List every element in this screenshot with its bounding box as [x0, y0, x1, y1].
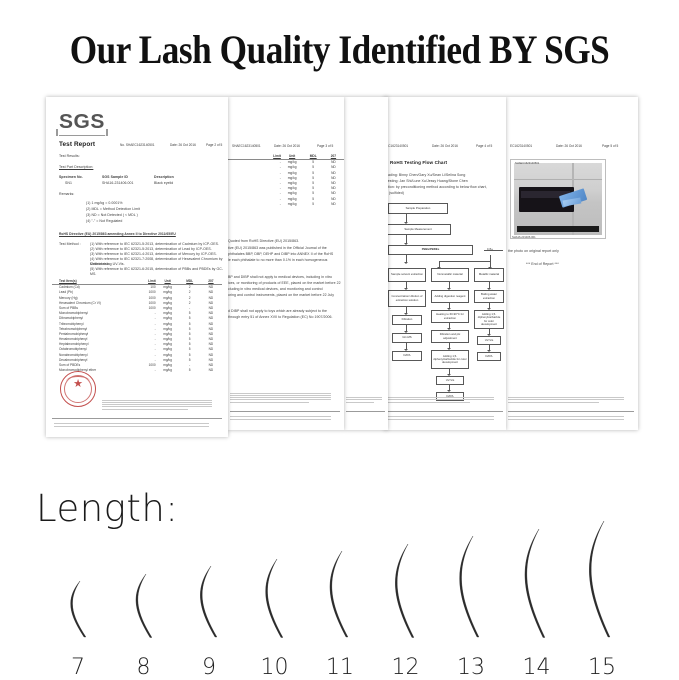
report-date: Date: 26 Oct 2016	[170, 143, 196, 147]
sgs-report-page-2[interactable]: SGS Test Report No. SHAEC1623140501 Date…	[46, 97, 228, 437]
photo-sample-label: SHAEC1623140501	[515, 162, 539, 165]
lash-size-label: 11	[308, 655, 372, 680]
flow-box-c1-1: Concentration/ dilution of extraction so…	[388, 290, 426, 307]
remark-1: (1) 1 mg/kg = 0.0001%	[86, 201, 123, 206]
lash-fiber	[71, 581, 86, 637]
flow-box-c3-2: Adding 1,5-diphenylcarbazide for color d…	[474, 310, 504, 329]
p2-note2-1: ices, or monitoring of products of EEE, …	[228, 281, 342, 286]
cell-result: ND	[323, 202, 344, 207]
lash-curve	[112, 573, 176, 639]
lash-fiber	[200, 566, 217, 637]
p2-th-limit: Limit	[258, 154, 281, 159]
description-value: Black eyelid	[154, 181, 173, 186]
flow-arrow-branch-mid	[439, 261, 440, 268]
report-page-number: Page 2 of 5	[206, 143, 222, 147]
flow-arrow-c2-2	[449, 323, 450, 329]
lash-length-chart: 789101112131415	[0, 520, 679, 680]
p3-footer-block	[346, 397, 385, 404]
p2-note3: d DIBP shall not apply to toys which are…	[228, 309, 342, 314]
lash-fiber	[265, 559, 282, 638]
flow-box-pbbs-pbdes: PBBs/PBDEs	[388, 245, 473, 255]
flow-arrow-c1-3	[406, 343, 407, 350]
product-info-graphic: Our Lash Quality Identified BY SGS SGS T…	[0, 0, 679, 679]
test-part-label: Test Part Description:	[59, 165, 93, 170]
p5-page-number: Page 5 of 5	[602, 144, 618, 148]
flow-arrow-c2-5	[449, 385, 450, 391]
table-row: -mg/kg5ND	[228, 202, 344, 207]
sgs-report-page-5[interactable]: EC1623140501 Date: 26 Oct 2016 Page 5 of…	[506, 97, 638, 430]
end-of-report: *** End of Report ***	[526, 262, 559, 267]
flow-box-c3-1: Boiling water extraction	[474, 290, 504, 303]
cell-mdl: 5	[179, 368, 199, 373]
certification-stamp	[60, 371, 96, 407]
p2-footer-block	[230, 393, 340, 404]
p5-footer-block	[508, 397, 634, 404]
flow-arrow-branch-right	[490, 255, 491, 268]
stamp-arc-text	[66, 376, 90, 387]
flow-box-sample-preparation: Sample Preparation	[388, 203, 448, 214]
lash-fiber	[395, 544, 414, 638]
lash-size-label: 15	[570, 655, 634, 680]
flow-arrow-c1-2	[406, 325, 407, 332]
p4-report-number: EC1623140501	[386, 144, 408, 148]
flow-arrow-c3-0	[489, 282, 490, 289]
flow-arrow-c2-3	[449, 343, 450, 349]
remark-3: (3) ND = Not Detected ( < MDL )	[86, 213, 138, 218]
flow-box-c3-0: Metallic material	[474, 268, 504, 282]
remarks-label: Remarks:	[59, 192, 74, 197]
lash-curve	[177, 565, 241, 638]
logo-tick-left	[56, 129, 58, 136]
sgs-report-page-sliver[interactable]	[344, 97, 388, 430]
results-table: Test Item(s) Limit Unit MDL 207 Cadmium …	[52, 279, 222, 373]
flow-arrow-c1-1	[406, 307, 407, 314]
p5-report-number: EC1623140501	[510, 144, 532, 148]
lash-fiber	[524, 529, 544, 638]
flow-box-c1-0: Sample solvent extraction	[388, 268, 426, 282]
sgs-logo: SGS	[59, 111, 105, 136]
sampleid-col-header: SGS Sample ID	[102, 175, 128, 180]
lash-curve	[374, 543, 438, 639]
p5-footer-divider	[508, 411, 634, 412]
lash-size-label: 13	[439, 655, 503, 680]
flow-box-c3-3: UV-Vis	[477, 336, 501, 345]
p2-report-number: SHAEC1623140501	[232, 144, 261, 148]
headline-container: Our Lash Quality Identified BY SGS	[0, 28, 679, 72]
p2-note-2: phthalates BBP, DBP, DEHP and DIBP into …	[228, 252, 342, 257]
rohs-directive-heading: RoHS Directive (EU) 2015/863 amending An…	[59, 232, 176, 236]
cell-item: Monobromodiphenyl ether	[52, 368, 132, 373]
p2-results-table: Limit Unit MDL 207 -mg/kg5ND-mg/kg5ND-mg…	[228, 154, 344, 207]
flow-arrow-c1-0	[406, 282, 407, 289]
flow-arrow-3	[406, 255, 407, 263]
cell-limit: -	[258, 202, 281, 207]
cell-unit: mg/kg	[156, 368, 180, 373]
flow-meta-1: Testing: Jan Shi/Lune Xu/Jessy Huang/Sto…	[386, 179, 468, 184]
p4-footer-divider	[386, 411, 503, 412]
flow-meta-2: ation: by preconditioning method accordi…	[386, 185, 487, 190]
p2-note4: through entry 51 of Annex XVII to Regula…	[228, 315, 342, 320]
description-col-header: Description	[154, 175, 174, 180]
flow-arrow-c2-1	[449, 303, 450, 309]
sgs-report-page-4[interactable]: EC1623140501 Date: 26 Oct 2016 Page 4 of…	[384, 97, 506, 430]
flow-meta-3: d (sulfided)	[386, 191, 404, 196]
page-title: Our Lash Quality Identified BY SGS	[41, 28, 639, 72]
lash-size-label: 10	[243, 655, 307, 680]
certificate-gallery: SGS Test Report No. SHAEC1623140501 Date…	[0, 97, 679, 442]
flow-box-c2-1: Adding digestion reagent	[431, 290, 469, 303]
flow-box-c1-2: Filtration	[392, 315, 422, 325]
specimen-col-header: Specimen No.	[59, 175, 83, 180]
p2-th-unit: Unit	[281, 154, 304, 159]
p5-report-date: Date: 26 Oct 2016	[556, 144, 582, 148]
lash-size-label: 14	[505, 655, 569, 680]
p2-page-number: Page 3 of 5	[317, 144, 333, 148]
lash-fiber	[330, 551, 348, 637]
sampleid-value: SHA16-231406.001	[102, 181, 134, 186]
flow-box-sample-measurement: Sample Measurement	[385, 224, 451, 235]
lash-fiber	[460, 536, 479, 637]
photo-caption: SHA16-231406.001	[512, 236, 536, 239]
p2-note2-0: BP and DIBP shall not apply to medical d…	[228, 275, 342, 280]
method-5: (5) With reference to IEC 62321-6:2015, …	[90, 267, 228, 276]
th-mdl: MDL	[179, 279, 199, 284]
flow-box-c2-3: Filtration and pH adjustment	[431, 330, 469, 343]
flow-arrow-c3-2	[489, 329, 490, 335]
p2-note-3: le each phthalate to no more than 0.1% i…	[228, 258, 342, 263]
specimen-value: SN1	[65, 181, 72, 186]
report-number: No. SHAEC1623140501	[120, 143, 155, 147]
flow-box-c2-0: Nonmetallic material	[431, 268, 469, 282]
logo-tick-right	[106, 129, 108, 136]
sample-photo-frame: SHAEC1623140501	[510, 159, 606, 239]
p2-report-date: Date: 26 Oct 2016	[274, 144, 300, 148]
lash-size-label: 8	[112, 655, 176, 680]
method-2: (2) With reference to IEC 62321-5:2013, …	[90, 247, 212, 252]
flow-arrow-c3-3	[489, 345, 490, 351]
p2-footer-divider	[230, 411, 340, 412]
p2-footer-contact	[230, 416, 340, 421]
th-unit: Unit	[156, 279, 180, 284]
photo-ruler	[517, 226, 600, 232]
test-method-label: Test Method :	[59, 242, 81, 247]
footer-divider	[52, 418, 222, 419]
p4-footer-contact	[386, 416, 503, 421]
flow-arrow-c3-1	[489, 303, 490, 309]
p4-report-date: Date: 26 Oct 2016	[432, 144, 458, 148]
photo-shelf-line	[514, 179, 602, 181]
stamp-inner-ring	[64, 375, 92, 403]
flow-arrow-1	[406, 214, 407, 223]
cell-limit: -	[132, 368, 156, 373]
lash-size-label: 7	[46, 655, 110, 680]
flow-line-branch	[439, 261, 491, 262]
th-test-item: Test Item(s)	[52, 279, 132, 284]
lash-curve	[505, 528, 569, 639]
p4-footer-block	[386, 397, 503, 404]
cell-mdl: 5	[303, 202, 322, 207]
lash-curve	[243, 558, 307, 639]
flow-box-c2-5: UV-Vis	[436, 376, 464, 385]
flow-chart-title: RoHS Testing Flow Chart	[390, 160, 447, 165]
lash-curve	[308, 550, 372, 638]
lash-curve	[570, 520, 634, 638]
test-results-label: Test Results:	[59, 154, 80, 159]
method-3: (3) With reference to IEC 62321-4:2013, …	[90, 252, 217, 257]
p2-th-mdl: MDL	[303, 154, 322, 159]
p5-photo-note: the photo on original report only	[508, 249, 559, 254]
lash-fiber	[135, 574, 151, 638]
sample-photo	[514, 163, 602, 235]
flow-box-c1-3: GC-MS	[392, 333, 422, 343]
remark-2: (2) MDL = Method Detection Limit	[86, 207, 140, 212]
cell-item	[228, 202, 258, 207]
lash-curve	[439, 535, 503, 638]
p2-note-0: Quoted from RoHS Directive (EU) 2015/863…	[228, 239, 342, 244]
p5-footer-contact	[508, 416, 634, 421]
table-body: Cadmium (Cd)100mg/kg2NDLead (Pb)1000mg/k…	[52, 285, 222, 373]
flow-arrow-2	[406, 235, 407, 244]
flow-box-c2-4: Adding 1,5-diphenylcarbazide for color d…	[431, 350, 469, 369]
p2-note2-2: cluding in vitro medical devices, and mo…	[228, 287, 342, 292]
cell-unit: mg/kg	[281, 202, 304, 207]
th-limit: Limit	[132, 279, 156, 284]
method-4b: Method using UV-Vis.	[90, 262, 125, 267]
p2-th-result: 207	[323, 154, 344, 159]
remark-4: (4) "-" = Not Regulated	[86, 219, 122, 224]
flow-box-c3-4: DATA	[477, 352, 501, 361]
p2-note2-3: oring and control instruments, placed on…	[228, 293, 342, 298]
flow-box-c1-4: DATA	[392, 351, 422, 361]
flow-arrow-c2-0	[449, 282, 450, 289]
footer-contact-block	[54, 423, 222, 428]
flow-box-c2-2: Heating to 60-90°C for extraction	[431, 310, 469, 323]
p3-footer-divider	[346, 411, 385, 412]
p2-note-1: tive (EU) 2015/863 was published in the …	[228, 246, 342, 251]
sgs-report-page-3[interactable]: SHAEC1623140501 Date: 26 Oct 2016 Page 3…	[228, 97, 344, 430]
th-result: 207	[200, 279, 222, 284]
lash-fiber	[589, 521, 610, 637]
footer-member-note	[220, 428, 221, 431]
lash-curve	[46, 580, 110, 638]
cell-result: ND	[200, 368, 222, 373]
p4-page-number: Page 4 of 5	[476, 144, 492, 148]
method-1: (1) With reference to IEC 62321-5:2013, …	[90, 242, 219, 247]
footer-text-block	[102, 400, 222, 411]
flow-meta-0: eading: Binny Chen/Gary Xu/Sean Li/Selin…	[386, 173, 465, 178]
lash-size-label: 9	[177, 655, 241, 680]
flow-arrow-c2-4	[449, 369, 450, 375]
p2-table-body: -mg/kg5ND-mg/kg5ND-mg/kg5ND-mg/kg5ND-mg/…	[228, 160, 344, 207]
flow-line-cr6	[484, 250, 503, 251]
lash-size-label: 12	[374, 655, 438, 680]
report-title: Test Report	[59, 141, 95, 148]
